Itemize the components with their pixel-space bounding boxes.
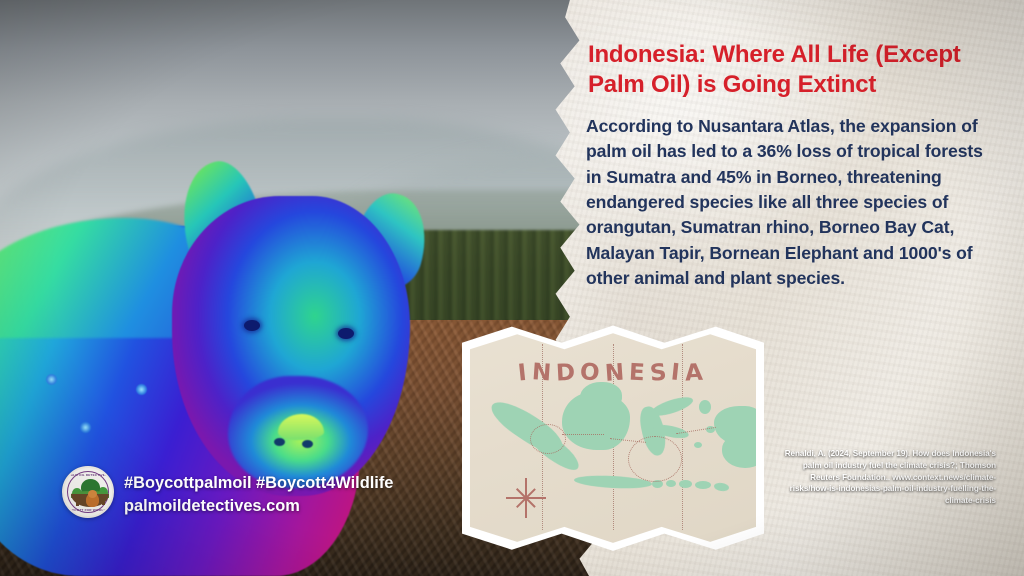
body-paragraph: According to Nusantara Atlas, the expans… <box>586 114 992 291</box>
logo-text-top: PALM OIL DETECTIVES <box>64 473 112 477</box>
compass-star-icon <box>506 478 546 518</box>
source-citation: Renaldi, A. (2024, September 19). How do… <box>782 448 996 507</box>
brand-footer: PALM OIL DETECTIVES BOYCOTT FOR WILDLIFE… <box>62 462 392 524</box>
map-route-line <box>562 434 604 435</box>
rhino-skin-spot <box>80 422 91 433</box>
map-island-halmahera <box>699 400 711 414</box>
rhino-eye-right <box>338 328 354 339</box>
map-route-circle <box>530 424 566 454</box>
rhino-eye-left <box>244 320 260 331</box>
rhino-nostril-right <box>302 440 313 448</box>
poster-canvas: Indonesia: Where All Life (Except Palm O… <box>0 0 1024 576</box>
logo-orangutan-head <box>88 490 97 498</box>
map-face: INDONESIA <box>470 330 756 544</box>
website-line[interactable]: palmoildetectives.com <box>124 495 404 518</box>
rhino-skin-spot <box>46 374 57 385</box>
brand-text-block: #Boycottpalmoil #Boycott4Wildlife palmoi… <box>124 472 404 519</box>
map-title-letter: S <box>649 359 673 387</box>
folded-map-illustration: INDONESIA <box>462 322 764 552</box>
palm-oil-detectives-logo-icon[interactable]: PALM OIL DETECTIVES BOYCOTT FOR WILDLIFE <box>62 466 114 518</box>
hashtags-line: #Boycottpalmoil #Boycott4Wildlife <box>124 472 404 495</box>
map-title-letter: D <box>555 359 580 386</box>
map-island-maluku <box>694 442 702 448</box>
map-title-letter: E <box>628 359 650 386</box>
map-island-sumbawa <box>679 480 692 488</box>
logo-text-bottom: BOYCOTT FOR WILDLIFE <box>64 508 112 512</box>
map-island-timor <box>714 482 730 492</box>
page-title: Indonesia: Where All Life (Except Palm O… <box>588 40 988 100</box>
map-route-circle <box>628 436 682 482</box>
rhino-skin-spot <box>136 384 147 395</box>
map-title: INDONESIA <box>470 360 756 386</box>
map-title-letter: A <box>684 359 708 386</box>
map-title-letter: N <box>531 359 557 387</box>
map-island-flores <box>695 481 711 489</box>
map-island-borneo-north <box>580 382 622 408</box>
map-island-lombok <box>666 480 676 487</box>
map-island-sulawesi-arm <box>649 394 695 420</box>
rhino-nostril-left <box>274 438 285 446</box>
